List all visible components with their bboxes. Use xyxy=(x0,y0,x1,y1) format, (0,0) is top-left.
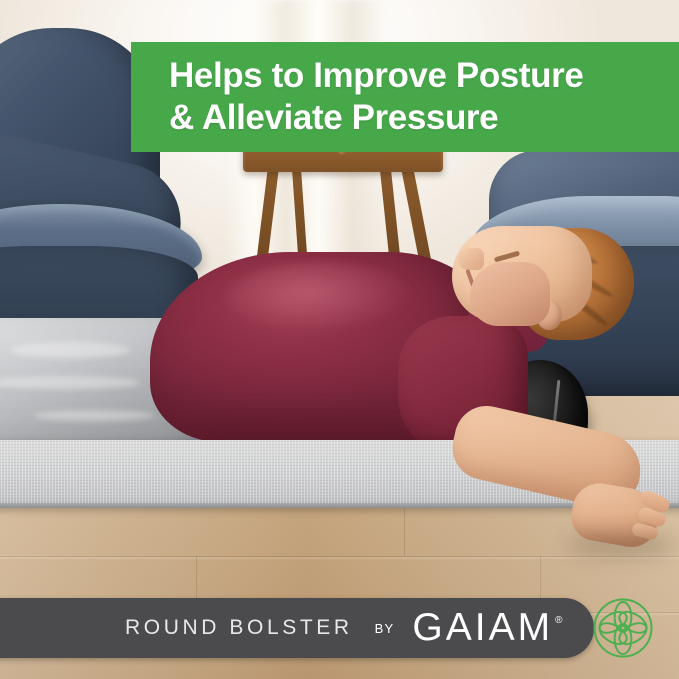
headline-line-1: Helps to Improve Posture xyxy=(169,55,679,97)
brand-wordmark: GAIAM® xyxy=(412,606,560,650)
brand-wordmark-text: GAIAM xyxy=(412,606,553,649)
by-label: BY xyxy=(375,621,395,636)
headline-banner: Helps to Improve Posture & Alleviate Pre… xyxy=(131,42,679,152)
shirt-highlight xyxy=(226,262,416,334)
product-name-label: ROUND BOLSTER xyxy=(125,616,353,640)
person-neck xyxy=(470,262,550,326)
gaiam-flower-of-life-icon xyxy=(592,597,654,659)
shorts-fold xyxy=(10,342,130,358)
shorts-fold xyxy=(0,376,140,389)
brand-bar: ROUND BOLSTER BY GAIAM® xyxy=(0,598,594,658)
hand-shadow xyxy=(566,534,676,556)
person-nose xyxy=(458,248,484,270)
headline-line-2: & Alleviate Pressure xyxy=(169,97,679,139)
shorts-fold xyxy=(34,410,154,421)
product-marketing-image: Helps to Improve Posture & Alleviate Pre… xyxy=(0,0,679,679)
registered-trademark-mark: ® xyxy=(555,615,562,626)
